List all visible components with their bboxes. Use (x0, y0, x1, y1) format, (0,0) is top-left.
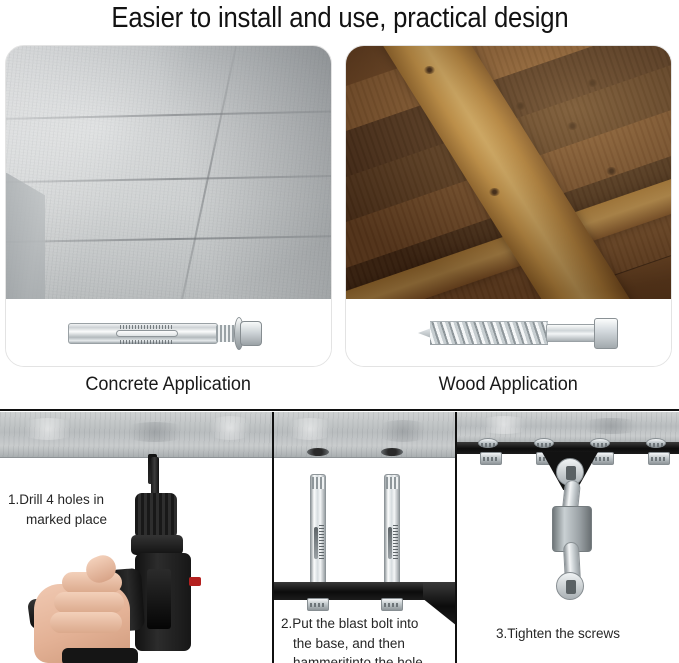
concrete-shading (6, 46, 331, 299)
step-2-line-1: 2.Put the blast bolt into (281, 616, 418, 631)
caption-concrete-text: Concrete Application (86, 374, 252, 396)
step-divider-2 (455, 412, 457, 663)
lag-screw-hex-head (594, 318, 618, 349)
bolt-head (534, 438, 554, 448)
anchor-bolt-slot (314, 527, 318, 559)
step-panel-1: 1.Drill 4 holes in marked place (0, 412, 272, 663)
concrete-ceiling-strip (273, 412, 455, 458)
anchor-bolt-right (384, 474, 400, 592)
lag-screw-icon (418, 313, 618, 353)
lag-screw-threads (430, 321, 548, 345)
step-divider-1 (272, 412, 274, 663)
step-panel-3: 3.Tighten the screws (456, 412, 679, 663)
sleeve-cuff (62, 648, 138, 663)
step-1-text: 1.Drill 4 holes in marked place (8, 490, 188, 529)
step-1-line-2: marked place (8, 510, 188, 530)
sleeve-anchor-stage (6, 299, 331, 367)
anchor-expansion-slot (116, 330, 178, 337)
anchor-knurl-bottom (120, 340, 174, 344)
page-title: Easier to install and use, practical des… (0, 0, 679, 38)
hex-nut (648, 452, 670, 465)
concrete-texture (6, 46, 331, 299)
product-feature-page: Easier to install and use, practical des… (0, 0, 679, 663)
anchor-hex-head (240, 321, 262, 346)
bolt-head (646, 438, 666, 448)
concrete-blotch (476, 416, 532, 434)
application-card-wood (345, 45, 672, 367)
concrete-blotch (283, 418, 337, 440)
anchor-bolt-cap (386, 477, 398, 489)
step-3-line-1: 3.Tighten the screws (496, 626, 620, 641)
concrete-ceiling-strip (0, 412, 272, 458)
wood-shading (346, 46, 671, 299)
drill-switch (189, 577, 201, 586)
concrete-blotch (120, 422, 190, 442)
concrete-blotch (373, 420, 433, 442)
lag-screw-stage (346, 299, 671, 367)
application-cards (0, 42, 679, 372)
hand-illustration (28, 562, 146, 663)
hex-nut-left (307, 598, 329, 611)
drill-torque-collar (131, 535, 183, 555)
step-3-text: 3.Tighten the screws (496, 624, 679, 644)
sleeve-anchor-bolt-icon (68, 315, 273, 351)
drilled-hole (381, 448, 403, 456)
caption-wood-text: Wood Application (439, 374, 578, 396)
step-2-line-3: hammeritinto the hole. (281, 653, 455, 663)
wood-texture (346, 46, 671, 299)
wrench-open-end (556, 572, 584, 600)
anchor-bolt-cap (312, 477, 324, 489)
drill-vent (147, 569, 171, 629)
bolt-head (478, 438, 498, 448)
anchor-bolt-left (310, 474, 326, 592)
anchor-knurl-top (120, 325, 174, 329)
step-panel-2: 2.Put the blast bolt into the base, and … (273, 412, 455, 663)
hex-nut-right (381, 598, 403, 611)
anchor-bolt-knurl (319, 525, 324, 561)
hex-nut (480, 452, 502, 465)
concrete-blotch (205, 416, 255, 440)
wood-beam-ceiling-photo (346, 46, 671, 299)
drilled-hole (307, 448, 329, 456)
hand-finger (50, 612, 122, 633)
caption-concrete: Concrete Application (5, 374, 332, 396)
hand-finger (54, 592, 124, 613)
bolt-head (590, 438, 610, 448)
step-2-text: 2.Put the blast bolt into the base, and … (281, 614, 455, 663)
caption-wood: Wood Application (345, 374, 672, 396)
application-card-concrete (5, 45, 332, 367)
step-2-line-2: the base, and then (281, 634, 455, 654)
concrete-blotch (18, 418, 78, 440)
concrete-ceiling-photo (6, 46, 331, 299)
concrete-blotch (576, 418, 646, 434)
anchor-bolt-knurl (393, 525, 398, 561)
anchor-bolt-slot (388, 527, 392, 559)
step-1-line-1: 1.Drill 4 holes in (8, 492, 104, 507)
page-title-text: Easier to install and use, practical des… (111, 1, 568, 35)
lag-screw-shank (546, 324, 598, 342)
section-divider (0, 409, 679, 411)
installation-steps: 1.Drill 4 holes in marked place (0, 412, 679, 663)
